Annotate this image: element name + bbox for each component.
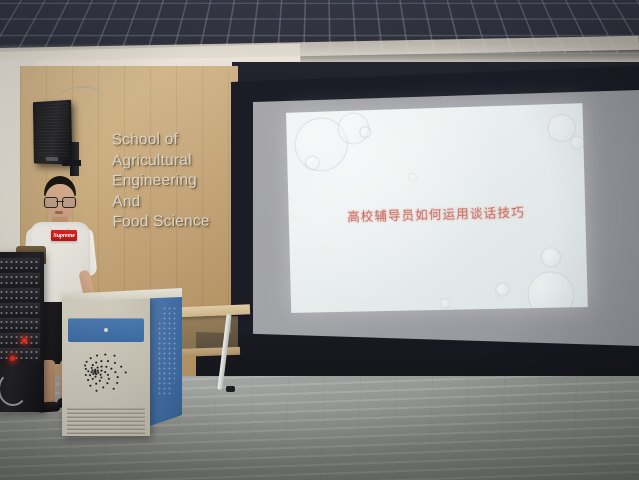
mouth — [55, 211, 63, 214]
rack-unit-controls — [0, 274, 39, 285]
lens-right — [62, 197, 76, 208]
rack-unit-controls — [0, 349, 39, 360]
shirt-logo-text: Supreme — [53, 232, 75, 239]
rack-unit-controls — [0, 334, 39, 345]
slide-bubble — [408, 173, 417, 182]
projected-slide: 高校辅导员如何运用谈话技巧 — [286, 103, 588, 313]
eyeglasses-icon — [44, 197, 76, 206]
podium-front-panel — [62, 296, 150, 436]
lens-left — [44, 197, 58, 208]
rack-unit-controls — [0, 259, 39, 270]
podium-side-panel — [150, 288, 182, 426]
podium-ventilation-slots — [67, 406, 145, 434]
speaker-grille — [36, 102, 69, 156]
slide-bubble — [359, 126, 371, 138]
slide-bubble — [439, 298, 450, 309]
shirt-logo-patch: Supreme — [51, 230, 77, 241]
podium-spiral-grille — [82, 352, 134, 392]
speaker-mount-arm — [62, 160, 81, 166]
wall-signage-text: School of Agricultural Engineering And F… — [111, 129, 209, 233]
podium-drawer — [68, 318, 144, 342]
lectern-podium — [62, 288, 182, 436]
speaker-badge — [46, 157, 58, 161]
speaker-mount-bracket — [70, 142, 79, 176]
rack-unit-controls — [0, 319, 39, 330]
rack-unit-controls — [0, 304, 39, 315]
rack-unit-controls — [0, 289, 39, 300]
podium-side-perforations — [157, 306, 176, 396]
lecture-hall-photo: School of Agricultural Engineering And F… — [0, 0, 639, 480]
slide-bubble — [495, 282, 509, 296]
status-led — [10, 356, 15, 361]
slide-bubble — [570, 135, 585, 150]
slide-bubble — [527, 271, 575, 313]
loudspeaker-icon — [33, 100, 72, 165]
slide-bubble — [541, 247, 562, 268]
table-foot — [226, 386, 235, 392]
status-led — [22, 338, 27, 343]
